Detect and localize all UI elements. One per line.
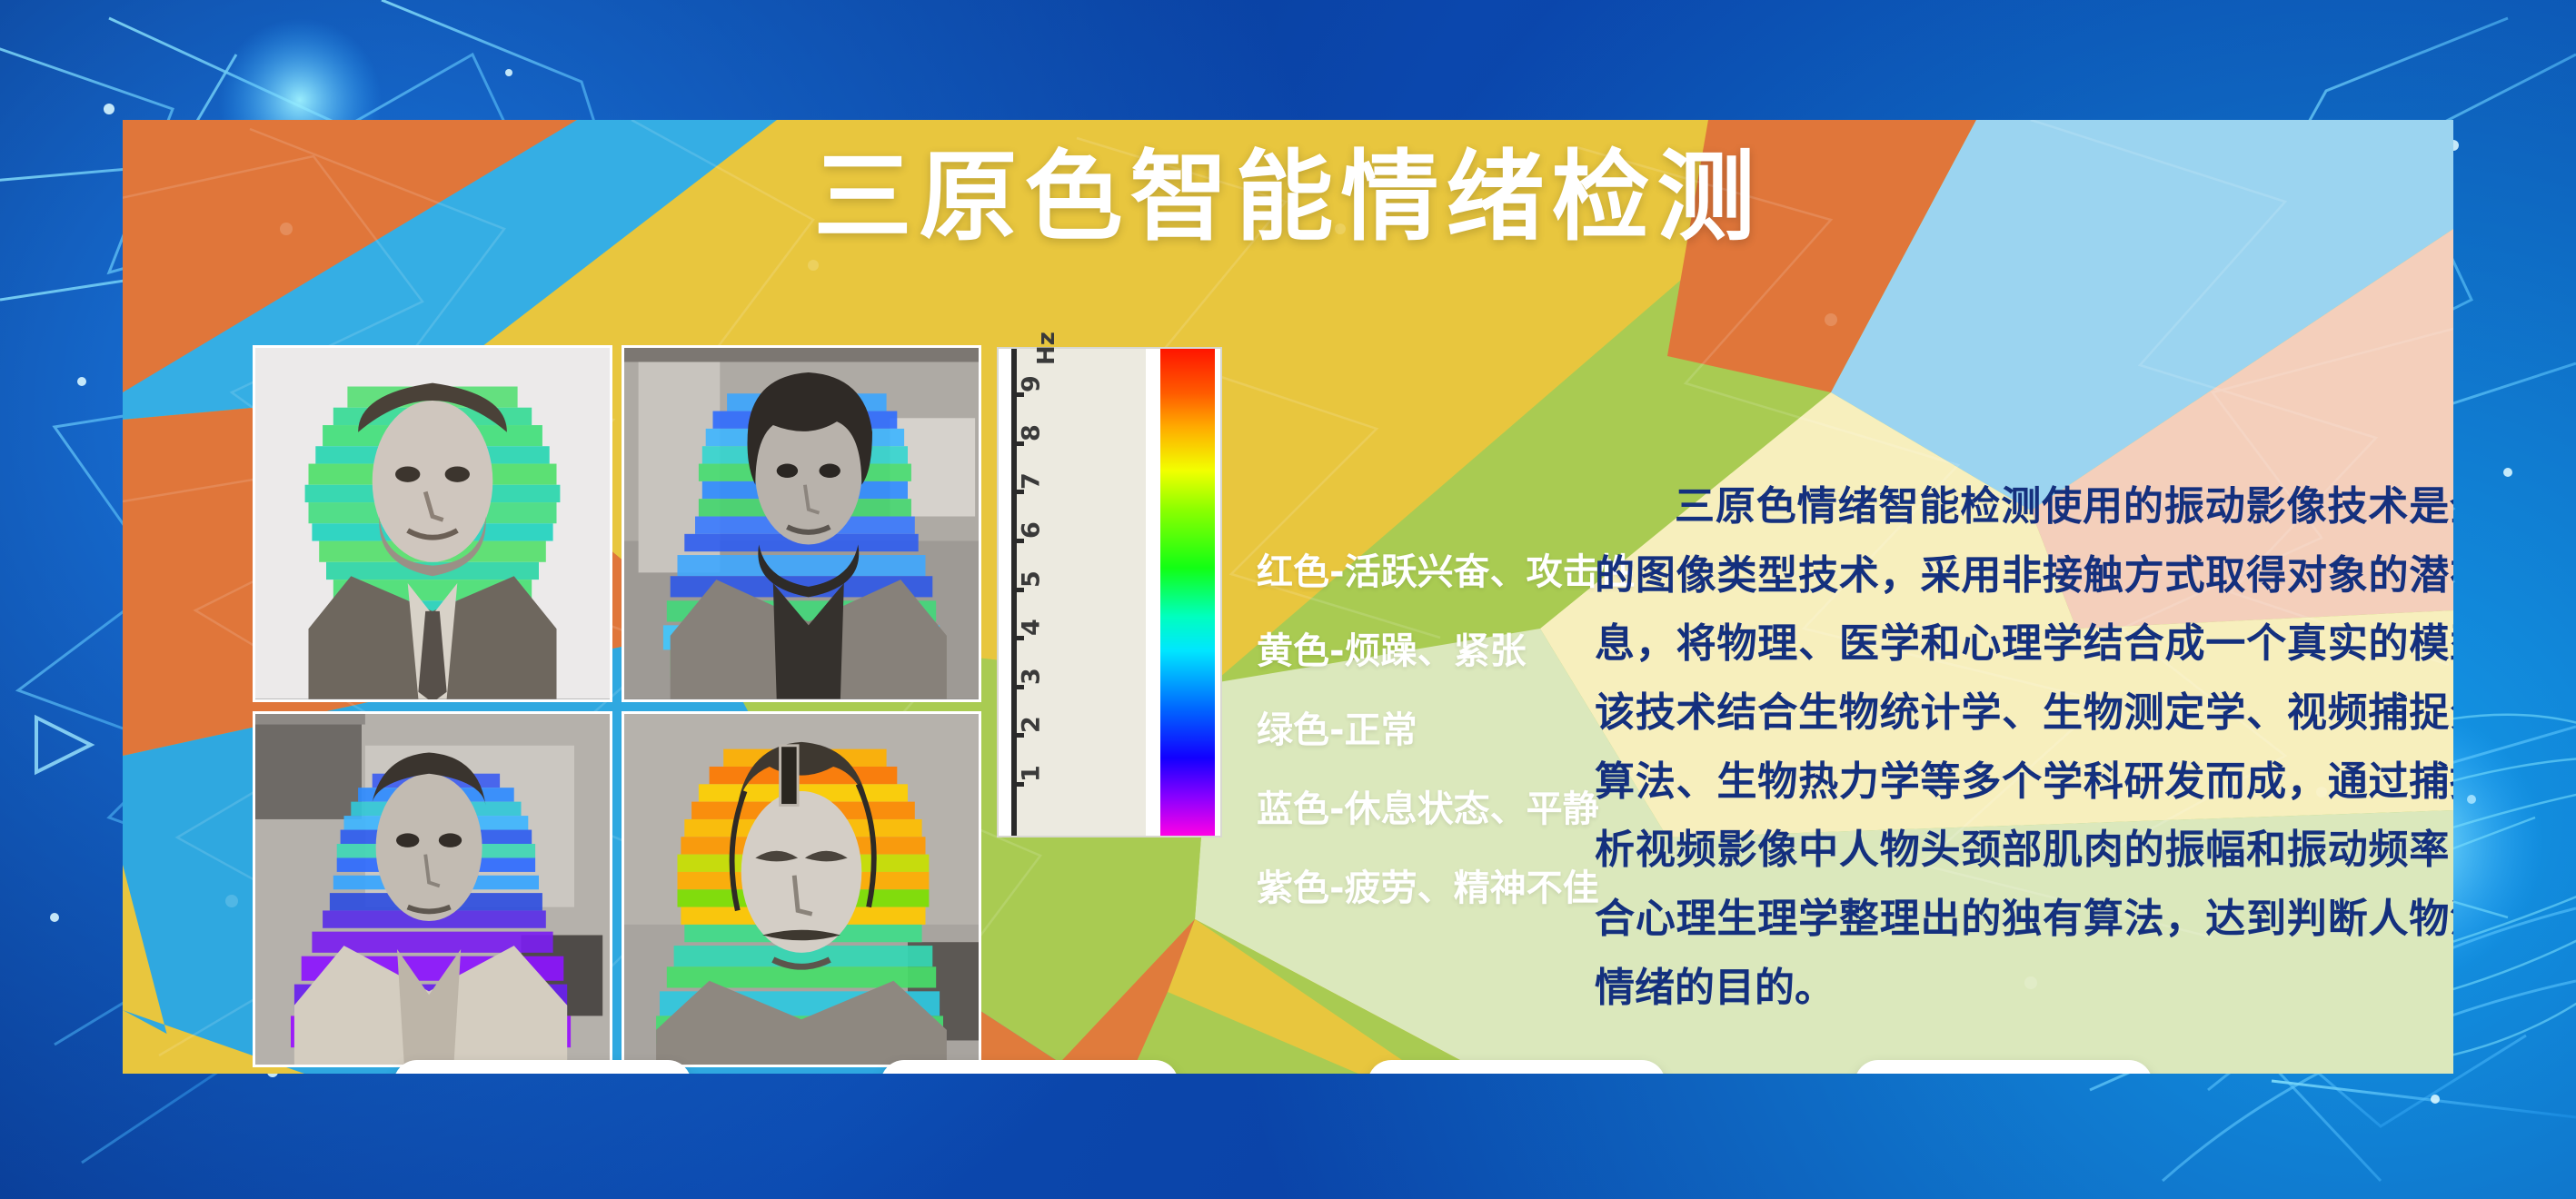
face-sample-2-image — [624, 348, 979, 699]
frequency-ruler: Hz 9 8 7 6 5 4 3 2 1 — [1011, 349, 1146, 836]
frequency-scale: Hz 9 8 7 6 5 4 3 2 1 — [997, 347, 1222, 837]
color-gradient-bar — [1160, 349, 1215, 836]
feature-pill-alert[interactable]: 智能预警 — [1855, 1060, 2153, 1074]
scale-tick — [1011, 392, 1024, 397]
vibraimage-photo-2 — [622, 345, 981, 702]
scale-tick — [1011, 636, 1024, 640]
scale-tick — [1011, 490, 1024, 494]
feature-pill-discreet[interactable]: 友好隐蔽 — [1368, 1060, 1666, 1074]
face-sample-4-image — [624, 714, 979, 1065]
vibraimage-photo-3 — [253, 711, 612, 1068]
face-sample-3-image — [255, 714, 610, 1065]
feature-pill-accurate[interactable]: 精确客观 — [880, 1060, 1179, 1074]
description-paragraph: 三原色情绪智能检测使用的振动影像技术是全新的图像类型技术，采用非接触方式取得对象… — [1595, 472, 2453, 1022]
scale-tick — [1011, 539, 1024, 543]
scale-tick — [1011, 441, 1024, 446]
face-sample-1-image — [255, 348, 610, 699]
vibraimage-photo-1 — [253, 345, 612, 702]
feature-pill-fast[interactable]: 快速方便 — [393, 1060, 691, 1074]
scale-label-8: 8 — [1018, 424, 1046, 441]
scale-tick — [1011, 733, 1024, 738]
vibraimage-photo-4 — [622, 711, 981, 1068]
scale-tick — [1011, 685, 1024, 689]
scale-label-5: 5 — [1018, 570, 1046, 588]
scale-label-1: 1 — [1018, 765, 1046, 782]
scale-tick — [1011, 588, 1024, 592]
scale-label-2: 2 — [1018, 717, 1046, 734]
scale-label-9: 9 — [1018, 375, 1046, 392]
scale-tick — [1011, 782, 1024, 787]
vibraimage-photo-grid — [253, 345, 981, 1067]
scale-label-6: 6 — [1018, 521, 1046, 539]
scale-label-7: 7 — [1018, 473, 1046, 490]
feature-pill-row: 快速方便 精确客观 友好隐蔽 智能预警 — [123, 1060, 2453, 1074]
scale-label-3: 3 — [1018, 668, 1046, 685]
poster-card: 三原色智能情绪检测 — [123, 120, 2453, 1074]
hz-unit-label: Hz — [1033, 332, 1060, 365]
poster-title: 三原色智能情绪检测 — [123, 142, 2453, 254]
scale-label-4: 4 — [1018, 619, 1046, 636]
